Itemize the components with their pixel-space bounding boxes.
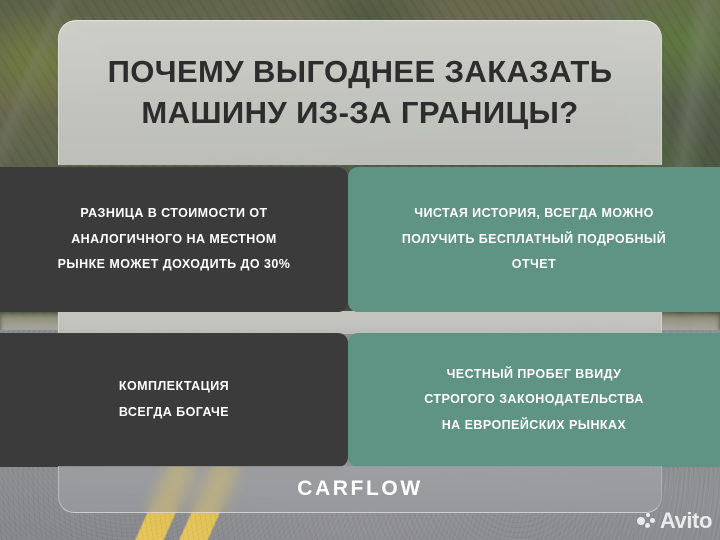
benefit-line: ВСЕГДА БОГАЧЕ	[119, 400, 229, 426]
benefit-card-text: КОМПЛЕКТАЦИЯ ВСЕГДА БОГАЧЕ	[119, 374, 229, 425]
headline-panel: ПОЧЕМУ ВЫГОДНЕЕ ЗАКАЗАТЬ МАШИНУ ИЗ-ЗА ГР…	[58, 20, 662, 165]
benefit-card-text: ЧИСТАЯ ИСТОРИЯ, ВСЕГДА МОЖНО ПОЛУЧИТЬ БЕ…	[402, 201, 666, 278]
benefit-card-price-difference: РАЗНИЦА В СТОИМОСТИ ОТ АНАЛОГИЧНОГО НА М…	[0, 167, 348, 312]
page-title-line-1: ПОЧЕМУ ВЫГОДНЕЕ ЗАКАЗАТЬ	[94, 52, 627, 93]
benefit-line: НА ЕВРОПЕЙСКИХ РЫНКАХ	[424, 413, 644, 439]
benefit-card-text: ЧЕСТНЫЙ ПРОБЕГ ВВИДУ СТРОГОГО ЗАКОНОДАТЕ…	[424, 362, 644, 439]
brand-name: CARFLOW	[297, 477, 423, 501]
benefit-line: ЧЕСТНЫЙ ПРОБЕГ ВВИДУ	[424, 362, 644, 388]
avito-watermark-label: Avito	[660, 508, 712, 534]
benefit-line: КОМПЛЕКТАЦИЯ	[119, 374, 229, 400]
avito-dots-icon	[637, 513, 656, 530]
benefit-line: РЫНКЕ МОЖЕТ ДОХОДИТЬ ДО 30%	[58, 252, 291, 278]
page-title: ПОЧЕМУ ВЫГОДНЕЕ ЗАКАЗАТЬ МАШИНУ ИЗ-ЗА ГР…	[94, 52, 627, 134]
benefit-card-text: РАЗНИЦА В СТОИМОСТИ ОТ АНАЛОГИЧНОГО НА М…	[58, 201, 291, 278]
benefit-line: ПОЛУЧИТЬ БЕСПЛАТНЫЙ ПОДРОБНЫЙ	[402, 227, 666, 253]
benefit-line: ЧИСТАЯ ИСТОРИЯ, ВСЕГДА МОЖНО	[402, 201, 666, 227]
panel-divider-strip	[58, 311, 662, 334]
benefit-line: АНАЛОГИЧНОГО НА МЕСТНОМ	[58, 227, 291, 253]
benefit-card-honest-mileage: ЧЕСТНЫЙ ПРОБЕГ ВВИДУ СТРОГОГО ЗАКОНОДАТЕ…	[348, 333, 720, 467]
page-title-line-2: МАШИНУ ИЗ-ЗА ГРАНИЦЫ?	[94, 93, 627, 134]
footer-brand-bar: CARFLOW	[58, 466, 662, 513]
benefit-line: СТРОГОГО ЗАКОНОДАТЕЛЬСТВА	[424, 387, 644, 413]
benefit-card-richer-equipment: КОМПЛЕКТАЦИЯ ВСЕГДА БОГАЧЕ	[0, 333, 348, 467]
benefit-line: РАЗНИЦА В СТОИМОСТИ ОТ	[58, 201, 291, 227]
avito-watermark: Avito	[637, 508, 712, 534]
benefit-card-clean-history: ЧИСТАЯ ИСТОРИЯ, ВСЕГДА МОЖНО ПОЛУЧИТЬ БЕ…	[348, 167, 720, 312]
benefit-line: ОТЧЕТ	[402, 252, 666, 278]
